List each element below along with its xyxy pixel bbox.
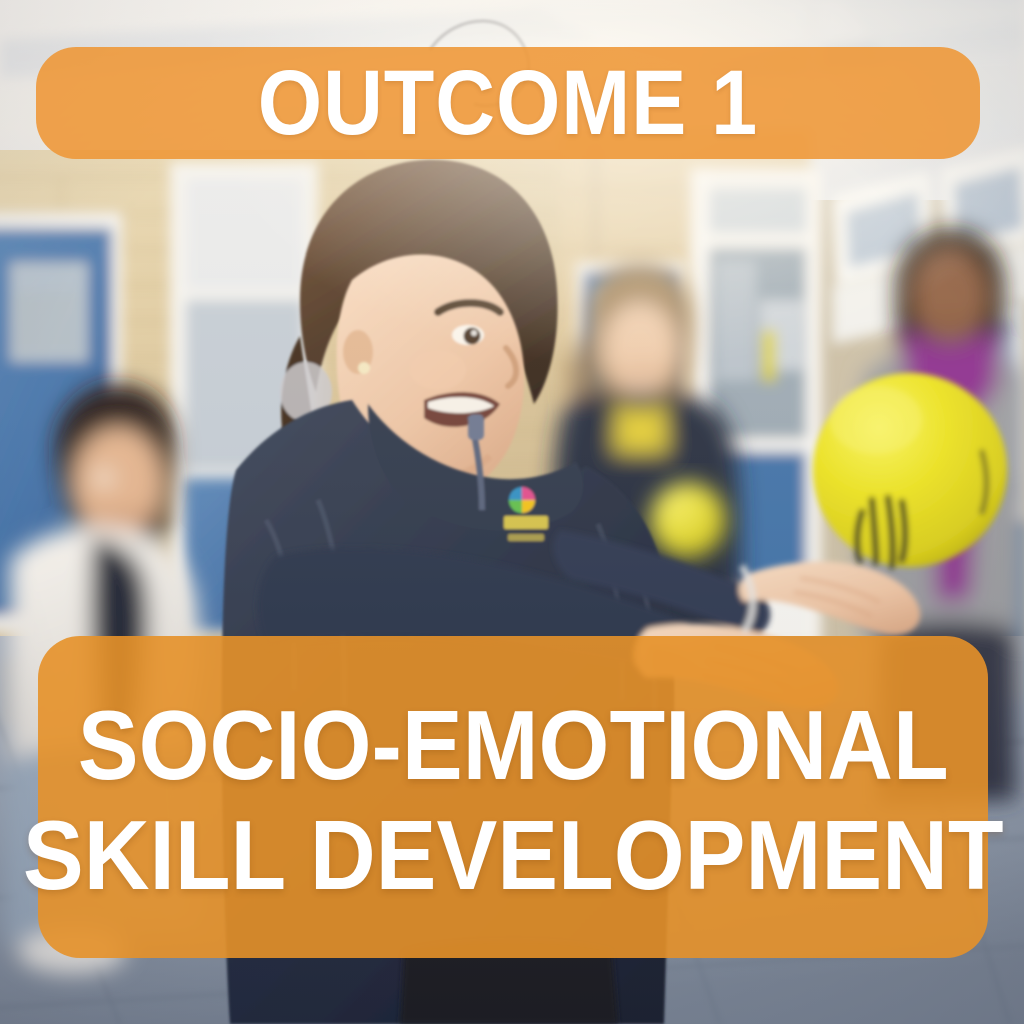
outcome-banner-label: OUTCOME 1 xyxy=(258,59,758,147)
title-banner: SOCIO-EMOTIONAL SKILL DEVELOPMENT xyxy=(38,636,988,958)
title-banner-line-2: SKILL DEVELOPMENT xyxy=(23,806,1004,904)
outcome-banner: OUTCOME 1 xyxy=(36,47,980,159)
title-banner-line-1: SOCIO-EMOTIONAL xyxy=(78,696,949,794)
poster-canvas: OUTCOME 1 SOCIO-EMOTIONAL SKILL DEVELOPM… xyxy=(0,0,1024,1024)
